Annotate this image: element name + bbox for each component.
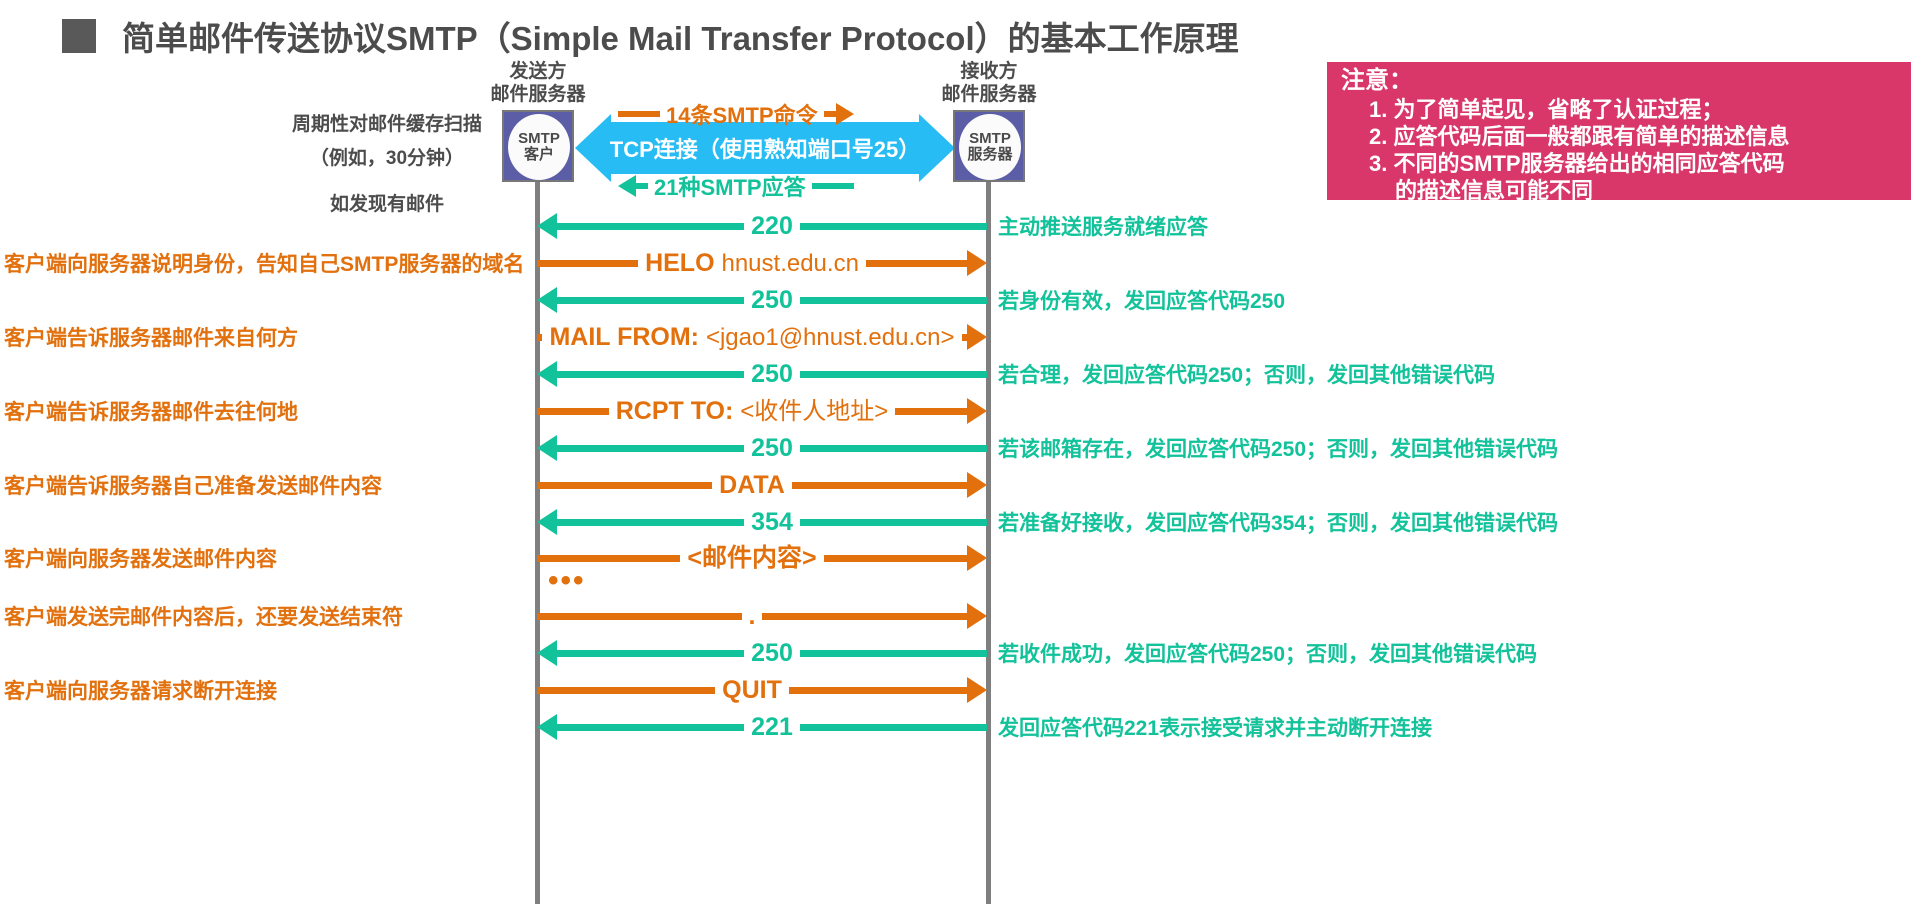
smtp-server-node: SMTP 服务器 [953, 110, 1025, 182]
message-caption: 250 [744, 639, 800, 667]
message-caption-command: HELO [645, 249, 714, 277]
message-right-annotation: 若合理，发回应答代码250；否则，发回其他错误代码 [998, 353, 1903, 395]
notice-box: 注意： 1. 为了简单起见，省略了认证过程； 2. 应答代码后面一般都跟有简单的… [1327, 62, 1911, 200]
message-right-annotation [998, 242, 1903, 284]
arrow-head-left-icon [537, 714, 557, 740]
message-caption: 250 [744, 434, 800, 462]
message-caption: 250 [744, 360, 800, 388]
message-row: 客户端告诉服务器邮件去往何地RCPT TO: <收件人地址> [0, 390, 1911, 432]
message-arrow-bar [800, 223, 987, 230]
legend-responses-arrow-icon [618, 175, 636, 197]
message-arrow-bar [800, 445, 987, 452]
arrow-head-left-icon [537, 361, 557, 387]
notice-item-3: 3. 不同的SMTP服务器给出的相同应答代码 [1341, 150, 1905, 177]
message-arrow-bar [537, 687, 715, 694]
legend-responses-bar [636, 183, 648, 189]
message-caption-argument: hnust.edu.cn [721, 250, 858, 277]
message-left-annotation [4, 427, 524, 469]
message-left-annotation: 客户端告诉服务器自己准备发送邮件内容 [4, 464, 524, 506]
message-right-annotation [998, 537, 1903, 579]
smtp-server-line1: SMTP [969, 131, 1011, 147]
smtp-client-node: SMTP 客户 [502, 110, 574, 182]
client-caption-line2: 邮件服务器 [462, 83, 614, 106]
message-right-annotation [998, 669, 1903, 711]
arrow-head-right-icon [967, 398, 987, 424]
legend-commands-bar [618, 111, 660, 117]
message-left-annotation [4, 205, 524, 247]
message-arrow-bar [800, 650, 987, 657]
message-caption-command: 354 [751, 508, 793, 536]
message-row: 221发回应答代码221表示接受请求并主动断开连接 [0, 706, 1911, 748]
message-row: 客户端向服务器请求断开连接QUIT [0, 669, 1911, 711]
message-arrow: RCPT TO: <收件人地址> [537, 390, 987, 432]
arrow-head-right-icon [967, 324, 987, 350]
message-right-annotation [998, 316, 1903, 358]
message-right-annotation [998, 595, 1903, 637]
message-caption-command: MAIL FROM: [549, 323, 699, 351]
message-caption: 221 [744, 713, 800, 741]
message-right-annotation [998, 464, 1903, 506]
message-caption: DATA [712, 471, 792, 499]
arrow-head-left-icon [537, 213, 557, 239]
message-caption-command: 250 [751, 639, 793, 667]
message-caption: <邮件内容> [680, 544, 823, 572]
message-left-annotation: 客户端告诉服务器邮件去往何地 [4, 390, 524, 432]
message-left-annotation: 客户端发送完邮件内容后，还要发送结束符 [4, 595, 524, 637]
arrow-head-left-icon [537, 640, 557, 666]
message-row: 客户端告诉服务器邮件来自何方MAIL FROM: <jgao1@hnust.ed… [0, 316, 1911, 358]
title-bullet-icon [62, 19, 96, 53]
message-arrow-bar [762, 613, 967, 620]
message-row: 客户端发送完邮件内容后，还要发送结束符. [0, 595, 1911, 637]
client-caption-line1: 发送方 [462, 60, 614, 83]
message-right-annotation: 发回应答代码221表示接受请求并主动断开连接 [998, 706, 1903, 748]
message-caption-command: 250 [751, 286, 793, 314]
notice-item-1: 1. 为了简单起见，省略了认证过程； [1341, 96, 1905, 123]
message-arrow-bar [557, 371, 744, 378]
message-left-annotation: 客户端向服务器请求断开连接 [4, 669, 524, 711]
notice-heading: 注意： [1341, 66, 1905, 96]
message-arrow-bar [537, 482, 712, 489]
message-arrow-bar [537, 408, 609, 415]
message-caption: 354 [744, 508, 800, 536]
message-arrow-bar [824, 555, 967, 562]
legend-commands: 14条SMTP命令 [618, 100, 854, 128]
message-row: 客户端告诉服务器自己准备发送邮件内容DATA [0, 464, 1911, 506]
client-endpoint-caption: 发送方 邮件服务器 [462, 60, 614, 106]
message-caption-command: 250 [751, 360, 793, 388]
message-arrow: 250 [537, 353, 987, 395]
legend-commands-arrow-icon [836, 103, 854, 125]
arrow-head-right-icon [967, 603, 987, 629]
message-left-annotation [4, 353, 524, 395]
arrow-head-right-icon [967, 545, 987, 571]
legend-commands-label: 14条SMTP命令 [660, 98, 824, 130]
legend-responses-bar2 [812, 183, 854, 189]
message-arrow-bar [557, 650, 744, 657]
message-row: 250若合理，发回应答代码250；否则，发回其他错误代码 [0, 353, 1911, 395]
message-arrow: 221 [537, 706, 987, 748]
message-caption: RCPT TO: <收件人地址> [609, 397, 896, 426]
message-arrow: . [537, 595, 987, 637]
message-caption: 220 [744, 212, 800, 240]
server-caption-line2: 邮件服务器 [913, 83, 1065, 106]
message-right-annotation [998, 390, 1903, 432]
smtp-client-line2: 客户 [524, 147, 554, 163]
message-left-annotation: 客户端向服务器发送邮件内容 [4, 537, 524, 579]
page-title: 简单邮件传送协议SMTP（Simple Mail Transfer Protoc… [122, 12, 1239, 60]
arrow-head-left-icon [537, 509, 557, 535]
continuation-dots: ••• [548, 566, 586, 596]
message-row: 220主动推送服务就绪应答 [0, 205, 1911, 247]
message-right-annotation: 若该邮箱存在，发回应答代码250；否则，发回其他错误代码 [998, 427, 1903, 469]
notice-item-3-continued: 的描述信息可能不同 [1341, 177, 1905, 204]
notice-item-2: 2. 应答代码后面一般都跟有简单的描述信息 [1341, 123, 1905, 150]
message-right-annotation: 若身份有效，发回应答代码250 [998, 279, 1903, 321]
smtp-server-line2: 服务器 [967, 147, 1012, 163]
message-left-annotation [4, 279, 524, 321]
message-caption-command: 220 [751, 212, 793, 240]
message-arrow-bar [800, 371, 987, 378]
message-arrow-bar [557, 519, 744, 526]
message-left-annotation [4, 632, 524, 674]
message-arrow-bar [800, 724, 987, 731]
message-row: 250若收件成功，发回应答代码250；否则，发回其他错误代码 [0, 632, 1911, 674]
message-caption-command: <邮件内容> [687, 544, 816, 572]
message-row: 客户端向服务器发送邮件内容<邮件内容> [0, 537, 1911, 579]
message-left-annotation: 客户端告诉服务器邮件来自何方 [4, 316, 524, 358]
message-arrow: QUIT [537, 669, 987, 711]
arrow-head-left-icon [537, 435, 557, 461]
message-caption-command: 250 [751, 434, 793, 462]
smtp-client-line1: SMTP [518, 131, 560, 147]
server-caption-line1: 接收方 [913, 60, 1065, 83]
legend-commands-bar2 [824, 111, 836, 117]
legend-responses-label: 21种SMTP应答 [648, 170, 812, 202]
message-arrow-bar [800, 519, 987, 526]
message-right-annotation: 主动推送服务就绪应答 [998, 205, 1903, 247]
scan-note-line2: （例如，30分钟） [278, 142, 496, 176]
message-arrow: <邮件内容> [537, 537, 987, 579]
message-arrow: MAIL FROM: <jgao1@hnust.edu.cn> [537, 316, 987, 358]
message-arrow-bar [537, 613, 742, 620]
message-arrow: 220 [537, 205, 987, 247]
message-caption-argument: <jgao1@hnust.edu.cn> [706, 324, 955, 351]
server-endpoint-caption: 接收方 邮件服务器 [913, 60, 1065, 106]
message-caption-argument: <收件人地址> [740, 398, 888, 425]
legend-responses: 21种SMTP应答 [618, 172, 854, 200]
message-arrow-bar [537, 260, 638, 267]
message-arrow-bar [557, 223, 744, 230]
message-arrow-bar [537, 555, 680, 562]
message-caption-command: QUIT [722, 676, 782, 704]
message-arrow-bar [789, 687, 967, 694]
message-row: 客户端向服务器说明身份，告知自己SMTP服务器的域名HELO hnust.edu… [0, 242, 1911, 284]
message-arrow: 250 [537, 279, 987, 321]
message-left-annotation: 客户端向服务器说明身份，告知自己SMTP服务器的域名 [4, 242, 524, 284]
message-arrow-bar [557, 724, 744, 731]
message-arrow: 250 [537, 427, 987, 469]
message-caption: MAIL FROM: <jgao1@hnust.edu.cn> [542, 323, 961, 352]
arrow-head-right-icon [967, 250, 987, 276]
message-caption-command: 221 [751, 713, 793, 741]
scan-note-line1: 周期性对邮件缓存扫描 [278, 108, 496, 142]
message-caption: QUIT [715, 676, 789, 704]
arrow-head-right-icon [967, 472, 987, 498]
message-arrow-bar [792, 482, 967, 489]
message-caption: HELO hnust.edu.cn [638, 249, 866, 278]
message-arrow-bar [866, 260, 967, 267]
message-arrow: 250 [537, 632, 987, 674]
message-left-annotation [4, 706, 524, 748]
smtp-server-oval: SMTP 服务器 [959, 114, 1021, 180]
message-arrow: HELO hnust.edu.cn [537, 242, 987, 284]
message-row: 250若该邮箱存在，发回应答代码250；否则，发回其他错误代码 [0, 427, 1911, 469]
arrow-head-left-icon [537, 287, 557, 313]
message-arrow-bar [895, 408, 967, 415]
message-row: 250若身份有效，发回应答代码250 [0, 279, 1911, 321]
message-arrow-bar [800, 297, 987, 304]
message-caption-command: . [749, 602, 756, 630]
message-arrow-bar [557, 297, 744, 304]
arrow-head-right-icon [967, 677, 987, 703]
message-caption: 250 [744, 286, 800, 314]
smtp-client-oval: SMTP 客户 [508, 114, 570, 180]
message-caption-command: DATA [719, 471, 785, 499]
message-arrow: DATA [537, 464, 987, 506]
tcp-connection-label: TCP连接（使用熟知端口号25） [575, 132, 955, 164]
message-arrow-bar [557, 445, 744, 452]
message-caption-command: RCPT TO: [616, 397, 734, 425]
message-right-annotation: 若收件成功，发回应答代码250；否则，发回其他错误代码 [998, 632, 1903, 674]
message-caption: . [742, 602, 763, 630]
page-title-row: 简单邮件传送协议SMTP（Simple Mail Transfer Protoc… [0, 8, 1911, 64]
